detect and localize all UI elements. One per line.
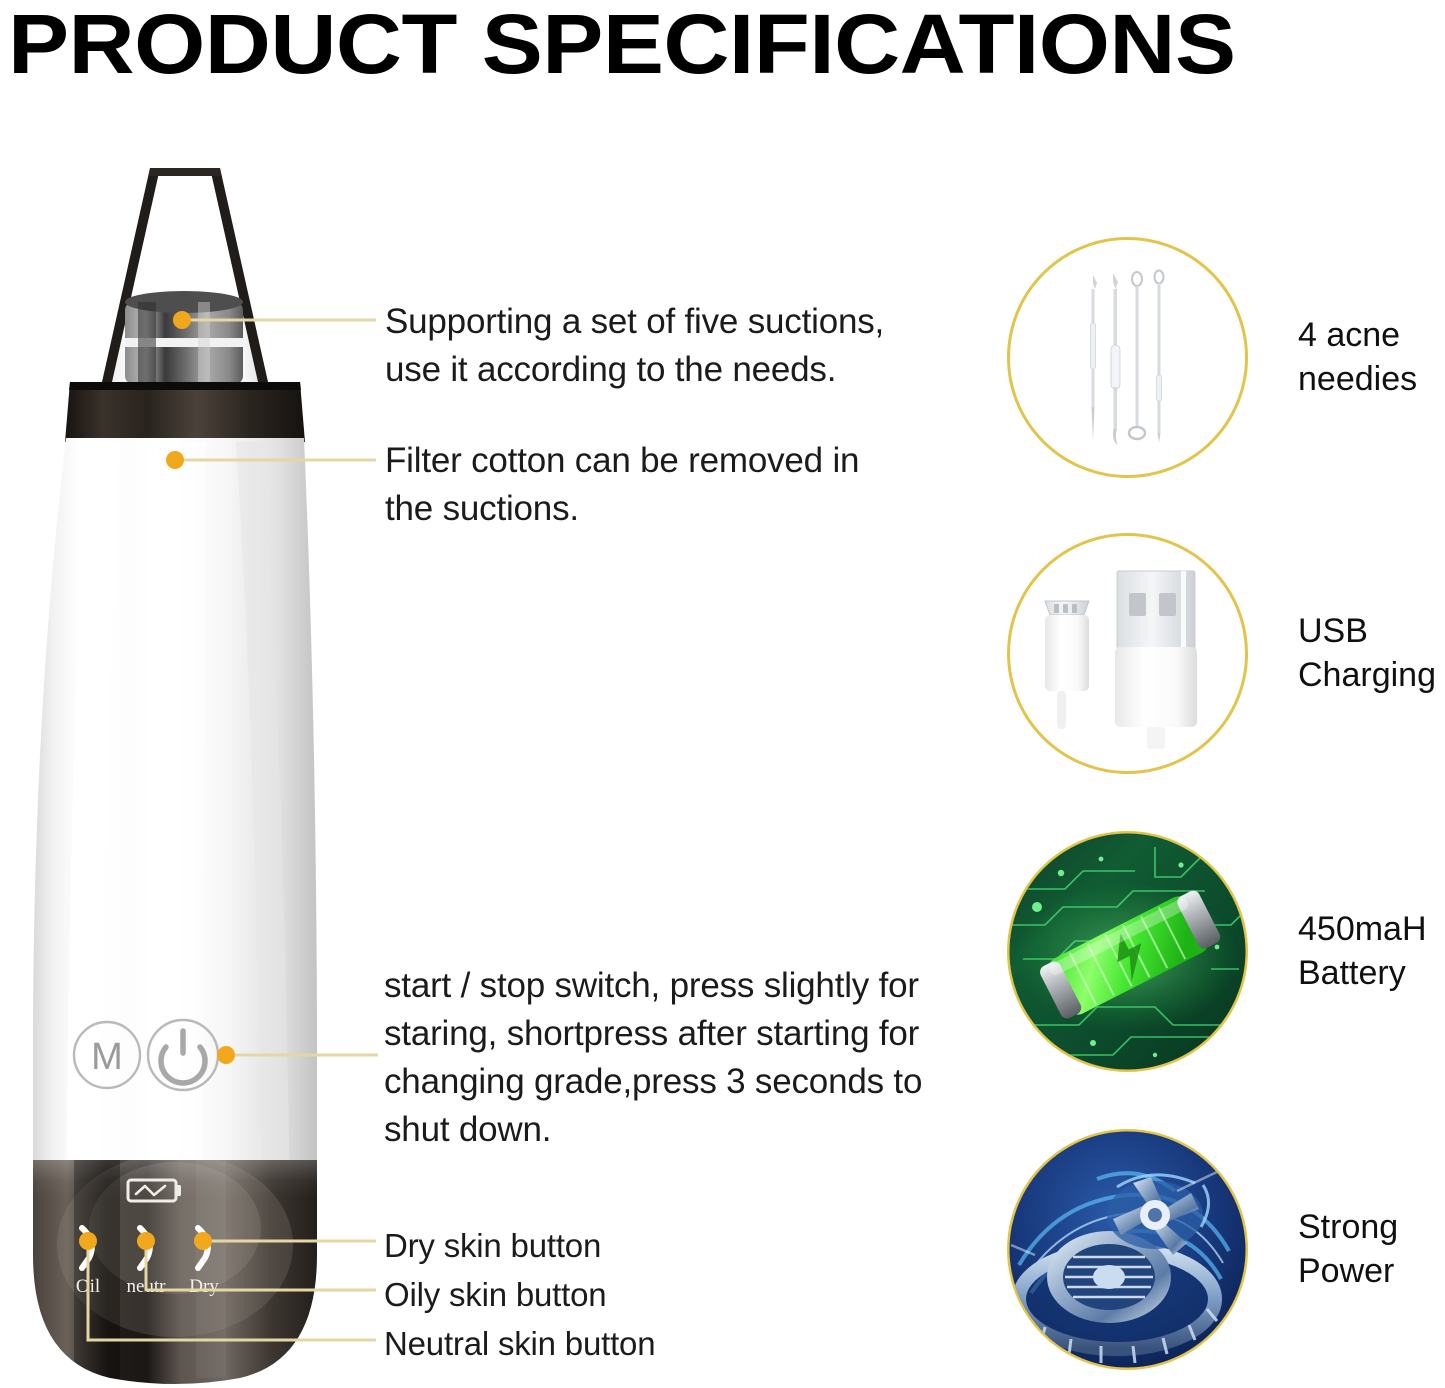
- oily-skin-button-callout-text: Oily skin button: [384, 1270, 606, 1320]
- device-illustration: M: [0, 150, 370, 1388]
- device-base: Oil neutr Dry: [33, 1153, 317, 1384]
- battery-capacity-label: 450maH Battery: [1298, 907, 1427, 995]
- strong-power-badge: [1005, 1127, 1250, 1372]
- svg-text:M: M: [91, 1036, 123, 1078]
- device-body: [33, 438, 317, 1210]
- acne-needles-feature: 4 acne needies: [1005, 232, 1445, 482]
- filter-cotton-callout-text: Filter cotton can be removed in the suct…: [385, 437, 925, 533]
- page-title: PRODUCT SPECIFICATIONS: [8, 0, 1445, 92]
- green-battery-icon: [1005, 829, 1250, 1074]
- usb-a-connector: [1115, 571, 1197, 749]
- label-oil: Oil: [76, 1276, 100, 1297]
- dry-skin-button-callout-text: Dry skin button: [384, 1221, 601, 1271]
- strong-power-feature: Strong Power: [1005, 1124, 1445, 1374]
- turbine-motor-icon: [1005, 1127, 1250, 1372]
- label-neutr: neutr: [126, 1276, 166, 1297]
- usb-cable-icon: [1005, 531, 1250, 776]
- suction-heads-callout-text: Supporting a set of five suctions, use i…: [385, 298, 945, 394]
- acne-needles-icon: [1005, 235, 1250, 480]
- usb-charging-badge: [1005, 531, 1250, 776]
- strong-power-label: Strong Power: [1298, 1205, 1398, 1293]
- neutral-skin-button-callout-text: Neutral skin button: [384, 1319, 655, 1369]
- usb-charging-label: USB Charging: [1298, 609, 1436, 697]
- usb-charging-feature: USB Charging: [1005, 528, 1445, 778]
- battery-capacity-feature: 450maH Battery: [1005, 826, 1445, 1076]
- product-specifications-page: PRODUCT SPECIFICATIONS: [0, 0, 1445, 1388]
- suction-head: [125, 291, 243, 384]
- battery-capacity-badge: [1005, 829, 1250, 1074]
- label-dry: Dry: [189, 1276, 219, 1297]
- start-stop-switch-callout-text: start / stop switch, press slightly for …: [384, 962, 964, 1154]
- device-collar: [65, 382, 305, 442]
- acne-needles-badge: [1005, 235, 1250, 480]
- acne-needles-label: 4 acne needies: [1298, 313, 1417, 401]
